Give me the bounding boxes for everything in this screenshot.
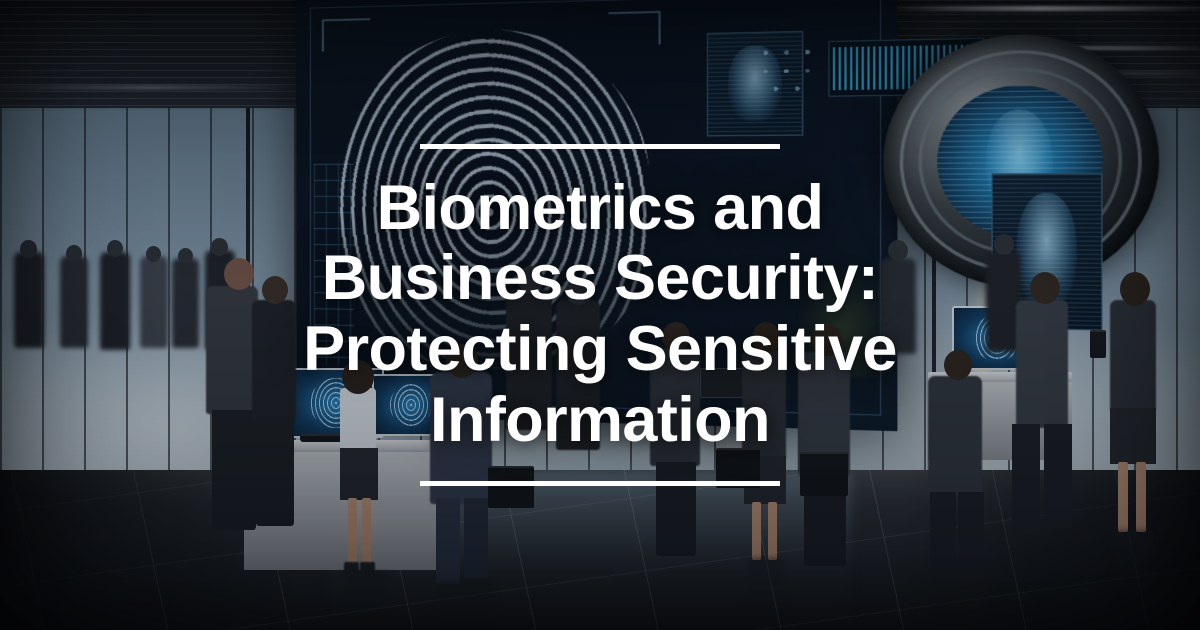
- title-line-1: Biometrics and: [377, 173, 824, 243]
- page-title: Biometrics and Business Security: Protec…: [303, 173, 897, 455]
- title-overlay: Biometrics and Business Security: Protec…: [0, 0, 1200, 630]
- top-divider-rule: [420, 144, 780, 149]
- title-line-3: Protecting Sensitive: [303, 314, 897, 384]
- bottom-divider-rule: [420, 481, 780, 486]
- title-line-4: Information: [430, 385, 770, 455]
- title-line-2: Business Security:: [322, 243, 878, 313]
- banner-canvas: Biometrics and Business Security: Protec…: [0, 0, 1200, 630]
